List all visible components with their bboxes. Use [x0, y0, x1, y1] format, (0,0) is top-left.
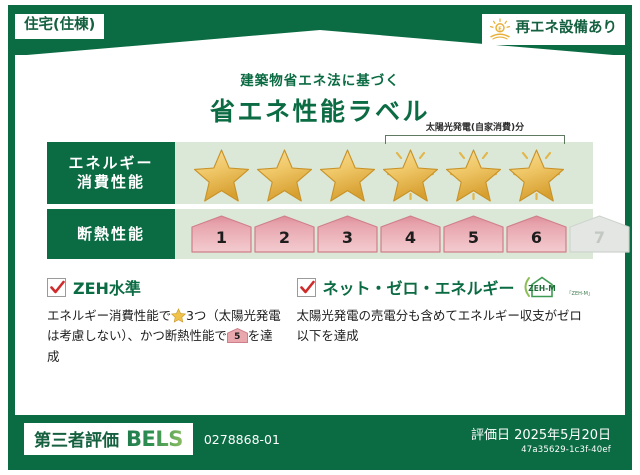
- star-icon: [171, 308, 186, 323]
- building-type-tag: 住宅(住棟): [15, 14, 104, 39]
- star-rating: [175, 144, 567, 202]
- insulation-level-value: 6: [506, 215, 567, 253]
- label-title: 省エネ性能ラベル: [15, 92, 625, 128]
- star-icon: [506, 144, 567, 202]
- evaluation-hash: 47a35629-1c3f-40ef: [471, 445, 611, 455]
- net-zero-checkbox[interactable]: [297, 278, 316, 297]
- check-icon: [299, 279, 316, 296]
- renewable-equipment-tag: E 再エネ設備あり: [482, 14, 626, 45]
- energy-performance-label: 住宅(住棟) E 再エネ設備あり 建築物省エネ法に基づく 省エネ性能ラベル: [8, 5, 632, 470]
- insulation-level-2: 2: [254, 215, 315, 253]
- bels-certification-chip: 第三者評価 BELS: [24, 423, 193, 455]
- star-icon: [191, 144, 252, 202]
- insulation-label: 断熱性能: [77, 225, 145, 244]
- energy-label-line2: 消費性能: [77, 173, 145, 192]
- criteria-section: ZEH水準 エネルギー消費性能で3つ（太陽光発電は考慮しない）、かつ断熱性能で5…: [47, 275, 593, 367]
- star-4: [380, 144, 441, 202]
- label-header: 住宅(住棟) E 再エネ設備あり: [15, 12, 625, 55]
- criterion-net-zero-energy: ネット・ゼロ・エネルギー ZEH-M 「ZEH-M」 太陽光発電の売電分も含めて…: [297, 275, 593, 367]
- star-1: [191, 144, 252, 202]
- zeh-text-part1: エネルギー消費性能で: [47, 308, 171, 323]
- insulation-level-value: 7: [569, 215, 630, 253]
- house-badge-icon: 5: [227, 328, 248, 343]
- insulation-level-value: 4: [380, 215, 441, 253]
- net-zero-title: ネット・ゼロ・エネルギー: [323, 275, 515, 299]
- star-icon: [317, 144, 378, 202]
- evaluation-date: 評価日 2025年5月20日: [471, 424, 611, 443]
- zeh-standard-heading: ZEH水準: [47, 275, 283, 299]
- bels-certificate-number: 0278868-01: [204, 432, 280, 447]
- insulation-level-4: 4: [380, 215, 441, 253]
- insulation-level-value: 5: [443, 215, 504, 253]
- zeh-m-logo-text: ZEH-M: [528, 284, 555, 293]
- energy-performance-row: エネルギー 消費性能: [47, 142, 593, 204]
- insulation-performance-label-cell: 断熱性能: [47, 209, 175, 259]
- star-icon: [443, 144, 504, 202]
- insulation-level-value: 3: [317, 215, 378, 253]
- svg-text:E: E: [498, 26, 502, 32]
- star-6: [506, 144, 567, 202]
- insulation-performance-row: 断熱性能 1234567: [47, 209, 593, 259]
- energy-performance-body: [175, 142, 593, 204]
- insulation-level-1: 1: [191, 215, 252, 253]
- star-2: [254, 144, 315, 202]
- zeh-m-logo-caption: 「ZEH-M」: [567, 290, 593, 297]
- insulation-level-7: 7: [569, 215, 630, 253]
- renewable-equipment-label: 再エネ設備あり: [516, 21, 618, 37]
- zeh-standard-description: エネルギー消費性能で3つ（太陽光発電は考慮しない）、かつ断熱性能で5を達成: [47, 306, 283, 367]
- performance-table: 太陽光発電(自家消費)分 エネルギー 消費性能 断熱性能 1234567: [47, 142, 593, 259]
- energy-label-line1: エネルギー: [68, 154, 153, 173]
- net-zero-heading: ネット・ゼロ・エネルギー ZEH-M 「ZEH-M」: [297, 275, 593, 299]
- star-icon: [380, 144, 441, 202]
- insulation-level-6: 6: [506, 215, 567, 253]
- label-subtitle: 建築物省エネ法に基づく: [15, 69, 625, 89]
- star-3: [317, 144, 378, 202]
- insulation-level-value: 1: [191, 215, 252, 253]
- net-zero-description: 太陽光発電の売電分も含めてエネルギー収支がゼロ以下を達成: [297, 306, 593, 347]
- insulation-level-value: 2: [254, 215, 315, 253]
- title-block: 建築物省エネ法に基づく 省エネ性能ラベル: [15, 69, 625, 128]
- evaluation-info: 評価日 2025年5月20日 47a35629-1c3f-40ef: [471, 424, 611, 455]
- house-badge-value: 5: [227, 328, 248, 343]
- energy-performance-label-cell: エネルギー 消費性能: [47, 142, 175, 204]
- zeh-standard-title: ZEH水準: [73, 275, 141, 299]
- sun-icon: E: [488, 18, 512, 40]
- insulation-performance-body: 1234567: [175, 209, 630, 259]
- third-party-eval-label: 第三者評価: [34, 426, 119, 451]
- zeh-standard-checkbox[interactable]: [47, 278, 66, 297]
- star-5: [443, 144, 504, 202]
- check-icon: [49, 279, 66, 296]
- criterion-zeh-standard: ZEH水準 エネルギー消費性能で3つ（太陽光発電は考慮しない）、かつ断熱性能で5…: [47, 275, 283, 367]
- zeh-m-house-icon: ZEH-M: [520, 275, 562, 299]
- insulation-level-scale: 1234567: [175, 215, 630, 253]
- star-icon: [254, 144, 315, 202]
- label-footer: 第三者評価 BELS 0278868-01 評価日 2025年5月20日 47a…: [15, 415, 625, 463]
- insulation-level-5: 5: [443, 215, 504, 253]
- insulation-level-3: 3: [317, 215, 378, 253]
- bels-logo-text: BELS: [126, 427, 183, 451]
